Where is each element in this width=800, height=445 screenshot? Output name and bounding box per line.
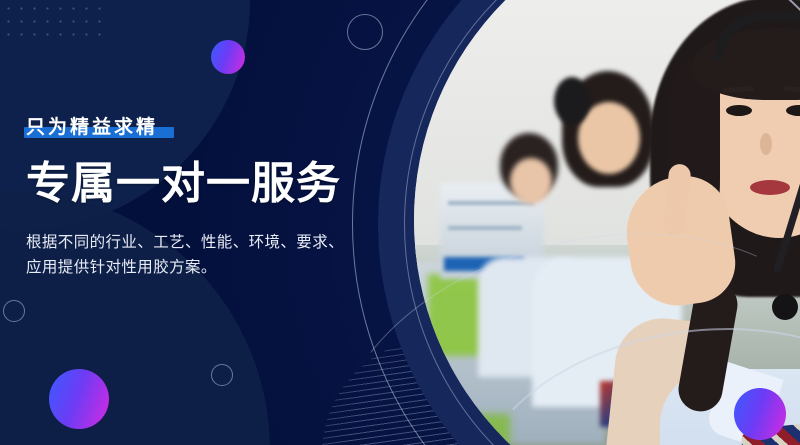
banner-description: 根据不同的行业、工艺、性能、环境、要求、 应用提供针对性用胶方案。 <box>26 230 386 280</box>
banner-description-line-1: 根据不同的行业、工艺、性能、环境、要求、 <box>26 230 386 255</box>
dot-grid-icon-top-left <box>2 2 110 44</box>
promo-banner: 努力 就是 不努力就是淡季 <box>0 0 800 445</box>
banner-tagline: 只为精益求精 <box>26 118 158 139</box>
tagline-wrapper: 只为精益求精 <box>26 118 158 139</box>
banner-description-line-2: 应用提供针对性用胶方案。 <box>26 255 386 280</box>
banner-copy: 只为精益求精 专属一对一服务 根据不同的行业、工艺、性能、环境、要求、 应用提供… <box>26 118 386 280</box>
gradient-dot-bottom-right <box>734 388 786 440</box>
banner-headline: 专属一对一服务 <box>26 159 386 208</box>
outline-ring-top <box>347 14 383 50</box>
gradient-dot-top <box>211 40 245 74</box>
gradient-dot-bottom-left <box>49 369 109 429</box>
outline-ring-middle <box>211 364 233 386</box>
outline-ring-left <box>3 300 25 322</box>
